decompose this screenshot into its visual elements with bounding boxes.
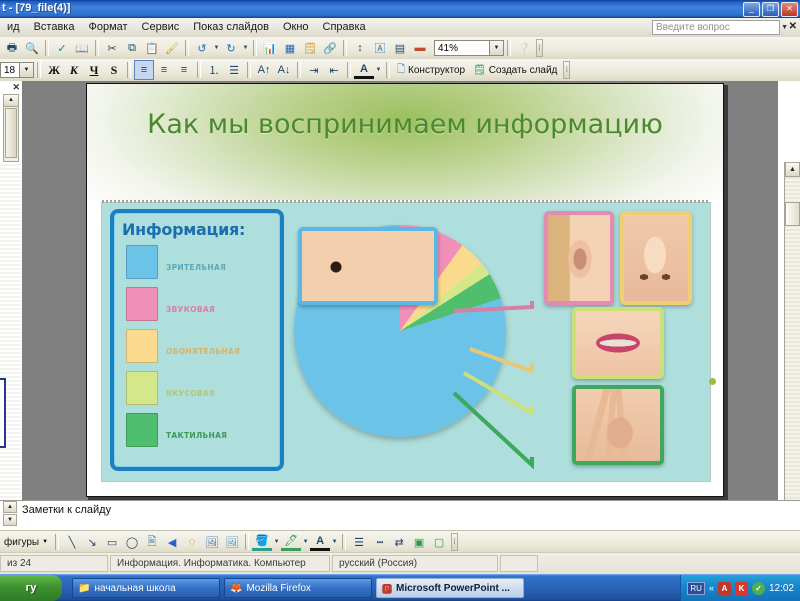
notes-scroll-up-icon[interactable]: ▲ [3, 501, 17, 513]
toolbar-separator [507, 40, 511, 56]
powerpoint-icon: 🅿 [382, 581, 392, 596]
shadow-style-icon[interactable]: ▣ [409, 532, 429, 552]
menu-item-window[interactable]: Окно [276, 20, 316, 34]
restore-button[interactable]: ❐ [762, 2, 779, 17]
legend-swatch-taste [126, 371, 158, 405]
research-icon[interactable]: 📖 [72, 38, 92, 58]
selected-slide-thumbnail[interactable] [0, 378, 6, 448]
3d-style-icon[interactable]: ▢ [429, 532, 449, 552]
powerpoint-window: t - [79_file(4)] _ ❐ ✕ ид Вставка Формат… [0, 0, 800, 600]
clock[interactable]: 12:02 [769, 583, 794, 594]
fill-color-dropdown-icon[interactable]: ▼ [272, 532, 281, 552]
slide-canvas[interactable]: Как мы воспринимаем информацию Информаци… [22, 81, 778, 500]
legend-item-visual: ЗРИТЕЛЬНАЯ [114, 243, 280, 285]
slides-outline-pane[interactable]: ✕ ▲ [0, 81, 23, 500]
font-size-value: 18 [4, 65, 15, 76]
decrease-font-size-icon[interactable]: A↓ [274, 60, 294, 80]
arrow-icon[interactable]: ↘ [82, 532, 102, 552]
underline-button[interactable]: Ч [84, 60, 104, 80]
undo-icon[interactable]: ↺ [192, 38, 212, 58]
align-right-icon[interactable]: ≡ [174, 60, 194, 80]
formatting-toolbar: 18 ▼ Ж К Ч S ≡ ≡ ≡ ⒈ ☰ A↑ A↓ ⇥ ⇤ A ▼ [0, 59, 800, 82]
eyes-photo[interactable] [298, 227, 438, 305]
copy-icon[interactable]: ⧉ [122, 38, 142, 58]
print-preview-icon[interactable]: 🔍 [22, 38, 42, 58]
close-button[interactable]: ✕ [781, 2, 798, 17]
title-bar: t - [79_file(4)] _ ❐ ✕ [0, 0, 800, 18]
font-color-icon[interactable]: A [310, 533, 330, 551]
firefox-icon: 🦊 [230, 583, 242, 594]
eyes-image [302, 231, 434, 301]
toolbar-separator [386, 62, 390, 78]
textbox-icon[interactable]: 🖹 [142, 532, 162, 552]
legend-item-smell: ОБОНЯТЕЛЬНАЯ [114, 327, 280, 369]
insert-hyperlink-icon[interactable]: 🔗 [320, 38, 340, 58]
tray-expand-icon[interactable]: « [709, 583, 714, 593]
toolbar-separator [342, 534, 346, 550]
toolbar-separator [197, 62, 201, 78]
menu-item-slideshow[interactable]: Показ слайдов [186, 20, 276, 34]
scrollbar-thumb[interactable] [785, 202, 800, 226]
ear-image [548, 215, 610, 301]
font-color-icon[interactable]: A [354, 61, 374, 79]
bold-button[interactable]: Ж [44, 60, 64, 80]
dash-style-icon[interactable]: ┅ [369, 532, 389, 552]
shadow-button[interactable]: S [104, 60, 124, 80]
toolbar-separator [95, 40, 99, 56]
cut-icon[interactable]: ✂ [102, 38, 122, 58]
autoshapes-label: фигуры [4, 537, 39, 548]
toolbar-separator [185, 40, 189, 56]
legend-swatch-visual [126, 245, 158, 279]
close-icon[interactable]: ✕ [789, 21, 797, 32]
notes-placeholder[interactable]: Заметки к слайду [22, 504, 111, 516]
rectangle-icon[interactable]: ▭ [102, 532, 122, 552]
align-left-icon[interactable]: ≡ [134, 60, 154, 80]
clipart-icon[interactable]: 🖼 [202, 532, 222, 552]
format-painter-icon[interactable]: 🖌 [162, 38, 182, 58]
redo-dropdown-icon[interactable]: ▼ [241, 38, 250, 58]
toolbar-separator [343, 40, 347, 56]
ask-a-question-input[interactable]: Введите вопрос [652, 20, 780, 35]
new-slide-button[interactable]: 🗒 Создать слайд [469, 61, 561, 79]
menu-item-insert[interactable]: Вставка [27, 20, 82, 34]
slide-count-cell: из 24 [0, 555, 108, 572]
standard-toolbar: 🖶 🔍 ✓ 📖 ✂ ⧉ 📋 🖌 ↺ ▼ ↻ ▼ 📊 ▦ 🗒 🔗 ↕ 🄰 ▤ ▬ [0, 37, 800, 60]
toolbar-separator [37, 62, 41, 78]
toolbar-overflow-handle[interactable]: ⁞ [451, 533, 458, 551]
legend-label-taste: ВКУСОВАЯ [166, 389, 215, 398]
spelling-icon[interactable]: ✓ [52, 38, 72, 58]
toolbar-separator [347, 62, 351, 78]
arrow-style-icon[interactable]: ⇄ [389, 532, 409, 552]
legend-swatch-tactile [126, 413, 158, 447]
design-name-cell: Информация. Информатика. Компьютер [110, 555, 330, 572]
autoshapes-button[interactable]: фигуры ▼ [0, 533, 52, 551]
menu-item-tools[interactable]: Сервис [135, 20, 187, 34]
hand-photo[interactable] [572, 385, 664, 465]
legend-label-tactile: ТАКТИЛЬНАЯ [166, 431, 227, 440]
outline-scrollbar[interactable]: ▲ [3, 94, 19, 162]
font-color-dropdown-icon[interactable]: ▼ [374, 60, 383, 80]
scroll-up-icon[interactable]: ▲ [4, 95, 18, 107]
line-color-dropdown-icon[interactable]: ▼ [301, 532, 310, 552]
spell-status-cell [500, 555, 538, 572]
font-size-combo[interactable]: 18 ▼ [0, 62, 34, 78]
minimize-button[interactable]: _ [743, 2, 760, 17]
close-icon[interactable]: ✕ [12, 82, 20, 93]
legend-item-audio: ЗВУКОВАЯ [114, 285, 280, 327]
design-icon: 🗋 [397, 62, 405, 79]
nose-image [624, 215, 688, 301]
mouth-image [576, 311, 660, 375]
legend-swatch-audio [126, 287, 158, 321]
taskbar-item-folder[interactable]: 📁 начальная школа [72, 578, 220, 598]
diagram-icon[interactable]: ◌ [182, 532, 202, 552]
wordart-icon[interactable]: ◀ [162, 532, 182, 552]
italic-button[interactable]: К [64, 60, 84, 80]
menu-item-format[interactable]: Формат [81, 20, 134, 34]
notes-pane[interactable]: ▲ ▼ Заметки к слайду [0, 500, 800, 531]
toolbar-overflow-handle[interactable]: ⁞ [563, 61, 570, 79]
line-color-icon[interactable]: 🖊 [281, 533, 301, 551]
increase-font-size-icon[interactable]: A↑ [254, 60, 274, 80]
design-label: Конструктор [408, 65, 465, 76]
drawing-toolbar: фигуры ▼ ╲ ↘ ▭ ◯ 🖹 ◀ ◌ 🖼 🖼 🪣 ▼ 🖊 ▼ A ▼ ☰… [0, 530, 800, 554]
notes-scroll-down-icon[interactable]: ▼ [3, 514, 17, 526]
insert-diagram-icon[interactable]: 🗒 [300, 38, 320, 58]
taskbar-item-powerpoint-label: Microsoft PowerPoint ... [396, 583, 510, 594]
insert-table-icon[interactable]: ▦ [280, 38, 300, 58]
undo-dropdown-icon[interactable]: ▼ [212, 38, 221, 58]
bulleted-list-icon[interactable]: ☰ [224, 60, 244, 80]
design-button[interactable]: 🗋 Конструктор [393, 61, 469, 79]
green-dot-marker [709, 378, 716, 385]
slide-body-area[interactable]: Информация: ЗРИТЕЛЬНАЯ ЗВУКОВАЯ ОБОНЯТЕЛ… [101, 202, 711, 482]
start-button[interactable]: гу [0, 575, 62, 601]
taskbar-item-firefox[interactable]: 🦊 Mozilla Firefox [224, 578, 372, 598]
toolbar-separator [297, 62, 301, 78]
language-indicator[interactable]: RU [687, 582, 705, 595]
fill-color-icon[interactable]: 🪣 [252, 533, 272, 551]
toolbar-separator [253, 40, 257, 56]
zoom-combo[interactable]: 41% ▼ [434, 40, 504, 56]
scrollbar-thumb[interactable] [5, 108, 17, 158]
toolbar-overflow-handle[interactable]: ⁞ [536, 39, 543, 57]
window-title: t - [79_file(4)] [2, 2, 70, 14]
ear-photo[interactable] [544, 211, 614, 305]
legend-heading: Информация: [114, 213, 280, 243]
nose-photo[interactable] [620, 211, 692, 305]
print-icon[interactable]: 🖶 [2, 38, 22, 58]
legend-item-taste: ВКУСОВАЯ [114, 369, 280, 411]
folder-icon: 📁 [78, 583, 90, 594]
slide-title-area[interactable]: Как мы воспринимаем информацию [87, 84, 723, 200]
picture-icon[interactable]: 🖼 [222, 532, 242, 552]
toolbar-separator [45, 40, 49, 56]
line-icon[interactable]: ╲ [62, 532, 82, 552]
kaspersky-icon[interactable]: K [735, 582, 748, 595]
page-title: Как мы воспринимаем информацию [87, 108, 723, 141]
legend-swatch-smell [126, 329, 158, 363]
decrease-indent-icon[interactable]: ⇥ [304, 60, 324, 80]
menu-item-view[interactable]: ид [0, 20, 27, 34]
legend-box[interactable]: Информация: ЗРИТЕЛЬНАЯ ЗВУКОВАЯ ОБОНЯТЕЛ… [110, 209, 284, 471]
placeholder-border [102, 200, 710, 203]
help-icon[interactable]: ❔ [514, 38, 534, 58]
line-style-icon[interactable]: ☰ [349, 532, 369, 552]
increase-indent-icon[interactable]: ⇤ [324, 60, 344, 80]
menu-bar: ид Вставка Формат Сервис Показ слайдов О… [0, 18, 800, 38]
menu-items: ид Вставка Формат Сервис Показ слайдов О… [0, 20, 373, 34]
numbered-list-icon[interactable]: ⒈ [204, 60, 224, 80]
menu-item-help[interactable]: Справка [316, 20, 373, 34]
align-center-icon[interactable]: ≡ [154, 60, 174, 80]
taskbar-item-powerpoint[interactable]: 🅿 Microsoft PowerPoint ... [376, 578, 524, 598]
shield-ok-icon[interactable]: ✓ [752, 582, 765, 595]
window-controls: _ ❐ ✕ [743, 2, 798, 17]
scroll-up-icon[interactable]: ▲ [785, 162, 800, 177]
chevron-down-icon[interactable]: ▼ [19, 63, 33, 77]
slide-thumbnail-strip[interactable] [0, 163, 21, 500]
system-tray: RU « A K ✓ 12:02 [680, 575, 800, 601]
new-slide-icon: 🗒 [473, 65, 486, 76]
taskbar: гу 📁 начальная школа 🦊 Mozilla Firefox 🅿… [0, 574, 800, 601]
toolbar-separator [127, 62, 131, 78]
chevron-down-icon[interactable]: ▼ [489, 41, 503, 55]
taskbar-item-folder-label: начальная школа [94, 583, 175, 594]
grid-icon[interactable]: ▤ [390, 38, 410, 58]
slide-surface[interactable]: Как мы воспринимаем информацию Информаци… [86, 83, 724, 497]
paste-icon[interactable]: 📋 [142, 38, 162, 58]
insert-chart-icon[interactable]: 📊 [260, 38, 280, 58]
workspace: ✕ ▲ Как мы воспринимаем информацию [0, 81, 800, 500]
legend-label-audio: ЗВУКОВАЯ [166, 305, 215, 314]
toolbar-separator [247, 62, 251, 78]
taskbar-item-firefox-label: Mozilla Firefox [246, 583, 310, 594]
adobe-icon[interactable]: A [718, 582, 731, 595]
status-bar: из 24 Информация. Информатика. Компьютер… [0, 552, 800, 575]
font-color-dropdown-icon[interactable]: ▼ [330, 532, 339, 552]
hand-image [576, 389, 660, 461]
color-scheme-icon[interactable]: ▬ [410, 38, 430, 58]
zoom-value: 41% [438, 43, 458, 54]
show-formatting-icon[interactable]: 🄰 [370, 38, 390, 58]
mouth-photo[interactable] [572, 307, 664, 379]
legend-item-tactile: ТАКТИЛЬНАЯ [114, 411, 280, 453]
line-spacing-icon[interactable]: ↕ [350, 38, 370, 58]
chevron-down-icon[interactable]: ▼ [781, 24, 788, 31]
legend-label-smell: ОБОНЯТЕЛЬНАЯ [166, 347, 240, 356]
toolbar-separator [245, 534, 249, 550]
chevron-down-icon[interactable]: ▼ [42, 539, 48, 545]
new-slide-label: Создать слайд [489, 65, 558, 76]
toolbar-separator [55, 534, 59, 550]
oval-icon[interactable]: ◯ [122, 532, 142, 552]
language-cell: русский (Россия) [332, 555, 498, 572]
redo-icon[interactable]: ↻ [221, 38, 241, 58]
legend-label-visual: ЗРИТЕЛЬНАЯ [166, 263, 226, 272]
